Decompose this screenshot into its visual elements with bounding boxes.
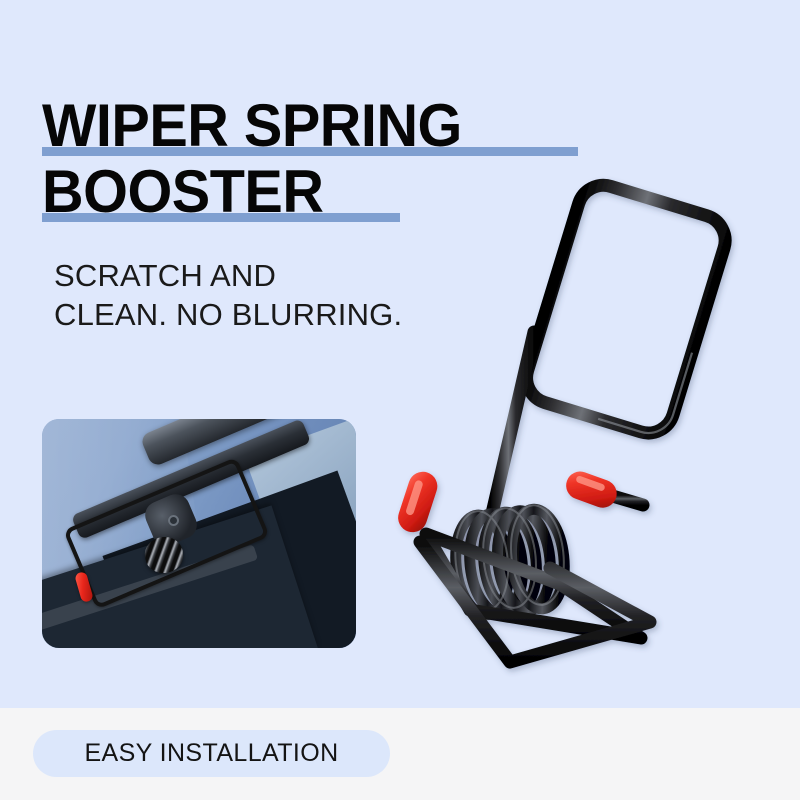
inset-installation-photo bbox=[42, 419, 356, 648]
main-panel: WIPER SPRING BOOSTER SCRATCH AND CLEAN. … bbox=[0, 0, 800, 708]
headline-line-1-text: WIPER SPRING bbox=[42, 96, 462, 156]
headline-line-1: WIPER SPRING bbox=[42, 96, 642, 162]
easy-installation-label: EASY INSTALLATION bbox=[84, 739, 338, 768]
upper-loop-left-leg bbox=[490, 332, 534, 522]
headline-line-2-text: BOOSTER bbox=[42, 162, 323, 222]
easy-installation-badge: EASY INSTALLATION bbox=[33, 730, 390, 777]
upper-red-tip bbox=[562, 468, 620, 512]
hero-product-illustration bbox=[360, 170, 790, 700]
lower-red-tip bbox=[394, 468, 441, 536]
product-ad-image: WIPER SPRING BOOSTER SCRATCH AND CLEAN. … bbox=[0, 0, 800, 800]
upper-wire-loop bbox=[520, 179, 731, 440]
product-wire-body bbox=[394, 179, 731, 662]
subtitle-text: SCRATCH AND CLEAN. NO BLURRING. bbox=[54, 256, 402, 334]
bottom-banner-strip: EASY INSTALLATION bbox=[0, 708, 800, 800]
